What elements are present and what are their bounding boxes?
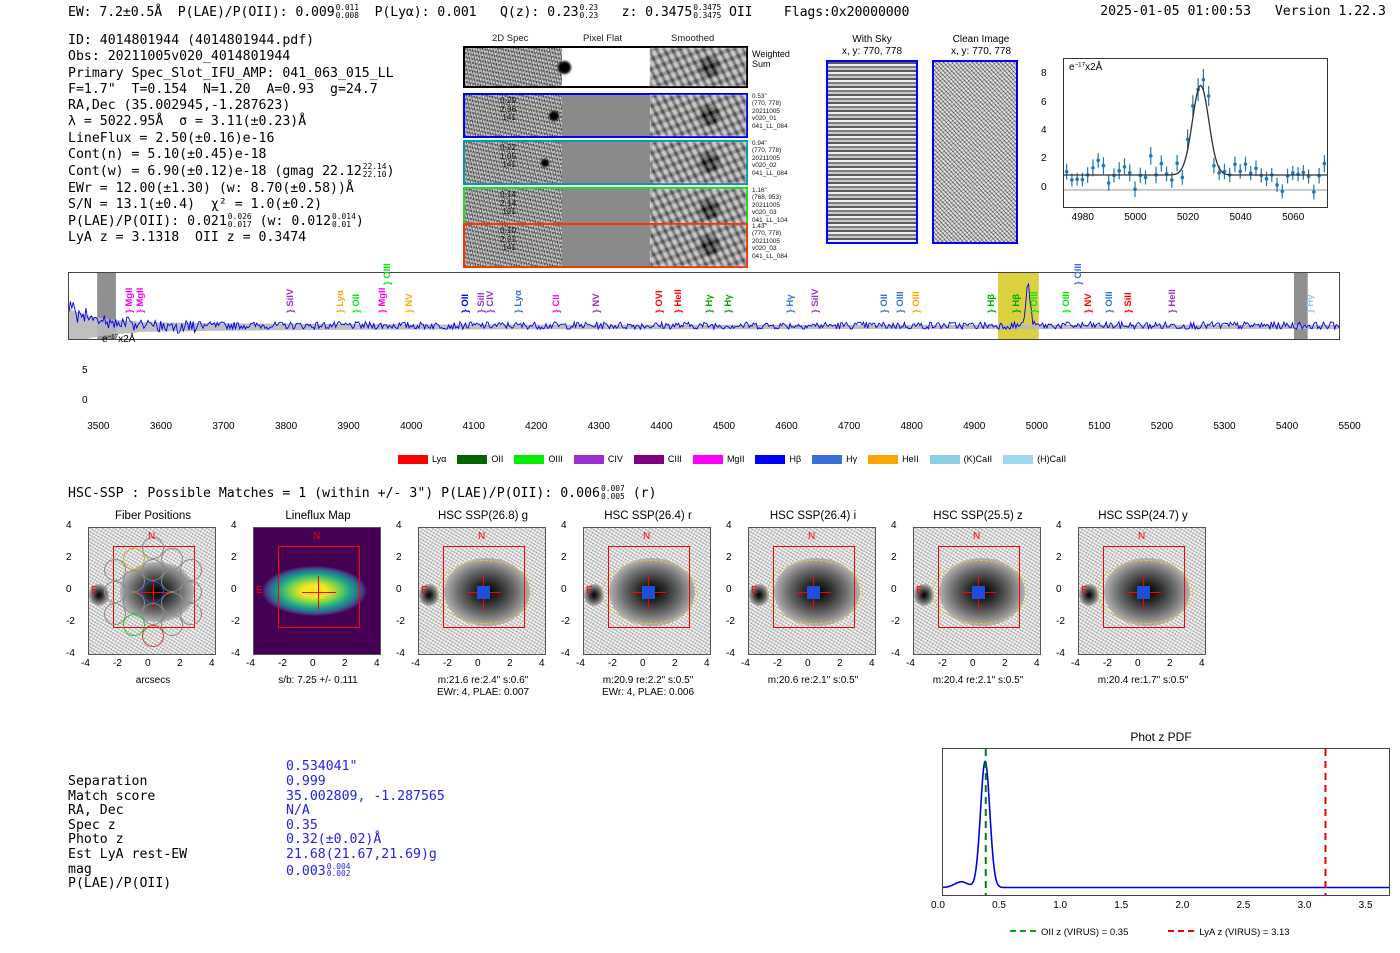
smoothed-image-weighted [650, 48, 746, 86]
cutout-ytick: 0 [891, 584, 897, 595]
zoom-spectrum-frame [1063, 58, 1328, 208]
legend-swatch [634, 455, 664, 464]
phot-z-pdf-title: Phot z PDF [930, 730, 1392, 744]
source-marker [972, 586, 985, 599]
fs-xtick: 4900 [963, 421, 985, 432]
cutout-ytick: -2 [231, 616, 240, 627]
east-label: E [256, 585, 263, 596]
cutout-image[interactable] [88, 527, 216, 655]
phot-z-pdf-frame [942, 748, 1390, 896]
cutout-ytick: -4 [396, 648, 405, 659]
cutout-caption-line1: s/b: 7.25 +/- 0.111 [225, 675, 411, 687]
east-label: E [916, 585, 923, 596]
legend-swatch [812, 455, 842, 464]
info-obs: Obs: 20211005v020_4014801944 [68, 49, 395, 65]
legend-swatch [930, 455, 960, 464]
spectrum-legend-item-2: OIII [514, 454, 563, 464]
cutout-xtick: 2 [1002, 658, 1008, 669]
fs-xtick: 3700 [212, 421, 234, 432]
fs-xtick: 4300 [588, 421, 610, 432]
emission-line-label-civ-10: } CIV [485, 291, 496, 313]
fiber-circle-16 [161, 614, 183, 636]
cutout-xtick: 4 [209, 658, 215, 669]
header-timestamp-version: 2025-01-05 01:00:53 Version 1.22.3 [1100, 4, 1386, 19]
cutout-caption-line1: m:20.6 re:2.1" s:0.5" [720, 675, 906, 687]
legend-swatch [755, 455, 785, 464]
pz-xtick: 1.0 [1053, 900, 1067, 911]
spec2d-col-title-pixelflat: Pixel Flat [583, 33, 622, 44]
emission-line-label-oiii-26: } OIII [1061, 291, 1072, 313]
spectrum-legend-item-9: (K)CaII [930, 454, 993, 464]
match-table-key: Spec z [68, 819, 116, 834]
info-plae-range: 0.0260.017 [228, 213, 252, 229]
legend-label: Hβ [789, 454, 801, 464]
cleanimage-image[interactable] [932, 60, 1018, 244]
emission-line-label-oiii-21: } OIII [895, 291, 906, 313]
north-label: N [478, 531, 485, 542]
legend-swatch [1003, 455, 1033, 464]
zoom-spectrum-units: e−17x2Å [1069, 62, 1102, 73]
header-plya: P(Lyα): 0.001 [375, 5, 477, 20]
north-label: N [148, 531, 155, 542]
east-label: E [586, 585, 593, 596]
cutout-ytick: 4 [726, 520, 732, 531]
match-table-key: mag [68, 863, 92, 878]
spectrum-legend-item-0: Lyα [398, 454, 446, 464]
spec2d-image-weighted [465, 48, 562, 86]
cutout-panel-title: HSC SSP(24.7) y [1050, 510, 1236, 522]
east-label: E [1081, 585, 1088, 596]
cutout-xtick: -4 [741, 658, 750, 669]
two-d-spec-panel-group: 2D Spec Pixel Flat Smoothed WeightedSum … [400, 33, 810, 258]
spec2d-rightlabels-fiber-3: 1.16"(768, 953)20211005v020_03041_LL_104 [752, 187, 812, 224]
match-table-value: 0.999 [286, 775, 326, 790]
cutout-xtick: -2 [938, 658, 947, 669]
east-label: E [751, 585, 758, 596]
legend-label: CIV [608, 454, 623, 464]
zoom-spectrum-svg [1064, 59, 1327, 207]
cutout-xtick: 4 [1034, 658, 1040, 669]
cutout-xtick: 2 [177, 658, 183, 669]
fiber-circle-14 [161, 548, 183, 570]
pz-xtick: 0.0 [931, 900, 945, 911]
cutout-ytick: -2 [1056, 616, 1065, 627]
cutout-xtick: -2 [113, 658, 122, 669]
cutout-ytick: 4 [891, 520, 897, 531]
cutout-panel-title: Lineflux Map [225, 510, 411, 522]
match-plae-range: 0.0040.002 [327, 863, 351, 879]
pixelflat-image-fiber-4 [562, 225, 651, 266]
spectrum-legend-item-7: Hγ [812, 454, 857, 464]
fs-xtick: 4200 [525, 421, 547, 432]
cutout-xtick: 4 [539, 658, 545, 669]
emission-line-label-siiv-19: } SiIV [810, 289, 821, 313]
match-table-key: Match score [68, 790, 155, 805]
spec2d-leftlabels-fiber-3: 0.142.14121 [476, 191, 516, 217]
cutout-ytick: -4 [1056, 648, 1065, 659]
info-plae-w-range: 0.0140.01 [332, 213, 356, 229]
fs-xtick: 4700 [838, 421, 860, 432]
cutout-xtick: 0 [970, 658, 976, 669]
fiber-circle-3 [123, 570, 145, 592]
cutout-image[interactable] [1078, 527, 1206, 655]
cutout-ytick: 4 [66, 520, 72, 531]
cutout-xtick: -2 [1103, 658, 1112, 669]
timestamp: 2025-01-05 01:00:53 [1100, 4, 1251, 19]
pz-legend-dash [1168, 930, 1194, 932]
match-table-key: RA, Dec [68, 804, 124, 819]
zs-ytick: 4 [1041, 125, 1047, 136]
zs-ytick: 2 [1041, 153, 1047, 164]
gmag-range: 22.1422.10 [363, 163, 387, 179]
fs-xtick: 3500 [87, 421, 109, 432]
emission-line-label-mgii-1: } MgII [135, 288, 146, 313]
fs-ytick: 5 [82, 365, 88, 376]
spec2d-rightlabels-fiber-2: 0.94"(770, 778)20211005v020_02041_LL_084 [752, 140, 812, 177]
pixelflat-image-fiber-2 [562, 142, 651, 183]
cutout-ytick: 2 [561, 552, 567, 563]
header-ew: EW: 7.2±0.5Å [68, 5, 162, 20]
fs-xtick: 5500 [1338, 421, 1360, 432]
match-table-key: Photo z [68, 833, 124, 848]
fs-xtick: 5400 [1276, 421, 1298, 432]
header-qz-range: 0.230.23 [579, 4, 598, 20]
spectrum-legend-item-6: Hβ [755, 454, 801, 464]
hsc-ssp-header: HSC-SSP : Possible Matches = 1 (within +… [68, 485, 657, 501]
fiber-circle-10 [180, 559, 202, 581]
emission-line-label-heii-31: } HeII [1167, 289, 1178, 313]
cutout-caption: arcsecs [60, 675, 246, 687]
north-label: N [1138, 531, 1145, 542]
cutout-caption: m:20.4 re:2.1" s:0.5" [885, 675, 1071, 687]
match-table-key: Est LyA rest-EW [68, 848, 187, 863]
emission-line-label-siiv-2: } SiIV [285, 289, 296, 313]
emission-line-label-hγ-18: } Hγ [785, 295, 796, 313]
emission-line-label-ovi-14: } OVI [654, 290, 665, 313]
match-table-value: 0.0030.0040.002 [286, 863, 351, 880]
weighted-sum-label: WeightedSum [752, 49, 790, 69]
emission-line-label-oii-4: } OII [351, 294, 362, 313]
cutout-caption: s/b: 7.25 +/- 0.111 [225, 675, 411, 687]
header-plae-range: 0.0110.008 [336, 4, 359, 20]
north-label: N [808, 531, 815, 542]
emission-line-label-oiii-25: } OIII [1029, 291, 1040, 313]
cutout-caption: m:20.4 re:1.7" s:0.5" [1050, 675, 1236, 687]
legend-swatch [457, 455, 487, 464]
north-label: N [313, 531, 320, 542]
fs-xtick: 5000 [1026, 421, 1048, 432]
pz-xtick: 0.5 [992, 900, 1006, 911]
info-sn-chi2: S/N = 13.1(±0.4) χ² = 1.0(±0.2) [68, 197, 395, 213]
cutout-xtick: -4 [576, 658, 585, 669]
cutout-ytick: -2 [726, 616, 735, 627]
header-z-type: OII [729, 5, 753, 20]
cutout-ytick: 0 [396, 584, 402, 595]
emission-line-label-hγ-17: } Hγ [723, 295, 734, 313]
fs-xtick: 3900 [338, 421, 360, 432]
info-lambda-sigma: λ = 5022.95Å σ = 3.11(±0.23)Å [68, 114, 395, 130]
cutout-caption: m:20.9 re:2.2" s:0.5"EWr: 4, PLAE: 0.006 [555, 675, 741, 699]
zs-xtick: 5040 [1229, 212, 1251, 223]
header-plae-label: P(LAE)/P(OII): [178, 5, 288, 20]
fs-xtick: 5200 [1151, 421, 1173, 432]
legend-label: HeII [902, 454, 919, 464]
spec2d-leftlabels-fiber-2: 0.221.05141 [476, 144, 516, 170]
fs-xtick: 4800 [901, 421, 923, 432]
header-qz-label: Q(z): [500, 5, 539, 20]
cutout-ytick: -4 [66, 648, 75, 659]
zoom-spectrum-plot[interactable]: e−17x2Å 02468 49805000502050405060 [1035, 50, 1335, 255]
cutout-xtick: 0 [145, 658, 151, 669]
emission-line-label-lyα-3: } Lyα [335, 290, 346, 313]
info-seeing: F=1.7" T=0.154 N=1.20 A=0.93 g=24.7 [68, 82, 395, 98]
info-lineflux: LineFlux = 2.50(±0.16)e-16 [68, 131, 395, 147]
cutout-caption-line1: m:20.9 re:2.2" s:0.5" [555, 675, 741, 687]
cutout-ytick: -2 [66, 616, 75, 627]
emission-line-label-oii-8: } OII [460, 294, 471, 313]
cutout-ytick: 0 [66, 584, 72, 595]
legend-label: (K)CaII [964, 454, 993, 464]
cutout-xtick: 2 [342, 658, 348, 669]
phot-z-pdf-panel[interactable]: Phot z PDF 0.00.51.01.52.02.53.03.5 OII … [930, 730, 1392, 945]
cutout-caption: m:20.6 re:2.1" s:0.5" [720, 675, 906, 687]
pz-legend-label: OII z (VIRUS) = 0.35 [1041, 927, 1128, 938]
spec2d-row-weighted-sum[interactable] [463, 46, 748, 88]
info-ewr: EWr = 12.00(±1.30) (w: 8.70(±0.58))Å [68, 181, 395, 197]
cutout-ytick: 4 [396, 520, 402, 531]
spectrum-legend-item-4: CIII [634, 454, 682, 464]
cutout-xtick: 0 [805, 658, 811, 669]
fs-xtick: 4100 [463, 421, 485, 432]
pz-legend-dash [1010, 930, 1036, 932]
cutout-caption-line1: arcsecs [60, 675, 246, 687]
info-radec: RA,Dec (35.002945,-1.287623) [68, 98, 395, 114]
emission-line-label-siii-30: } SiII [1123, 292, 1134, 313]
header-plae-value: 0.009 [295, 5, 334, 20]
cutout-ytick: 0 [561, 584, 567, 595]
cutout-image[interactable] [913, 527, 1041, 655]
pz-legend-item-1: LyA z (VIRUS) = 3.13 [1168, 920, 1289, 939]
pz-legend-item-0: OII z (VIRUS) = 0.35 [1010, 920, 1128, 939]
legend-swatch [693, 455, 723, 464]
north-label: N [643, 531, 650, 542]
crosshair-vertical [318, 576, 319, 610]
header-flags: Flags:0x20000000 [784, 5, 909, 20]
pz-xtick: 2.0 [1175, 900, 1189, 911]
match-table-key: P(LAE)/P(OII) [68, 877, 171, 892]
emission-line-label-hβ-23: } Hβ [986, 294, 997, 313]
cutout-ytick: 2 [1056, 552, 1062, 563]
emission-line-label-hγ-32: } Hγ [1305, 295, 1316, 313]
zs-ytick: 6 [1041, 97, 1047, 108]
spectrum-legend-item-5: MgII [693, 454, 745, 464]
source-marker [642, 586, 655, 599]
cutout-xtick: 4 [374, 658, 380, 669]
east-label: E [421, 585, 428, 596]
legend-label: CIII [668, 454, 682, 464]
hsc-plae-range: 0.0070.005 [601, 485, 625, 501]
cutout-ytick: -4 [726, 648, 735, 659]
emission-line-label-heii-15: } HeII [673, 289, 684, 313]
match-table-value: 21.68(21.67,21.69)g [286, 848, 437, 863]
cutout-caption: m:21.6 re:2.4" s:0.6"EWr: 4, PLAE: 0.007 [390, 675, 576, 699]
fs-ytick: 0 [82, 395, 88, 406]
cutout-ytick: 2 [66, 552, 72, 563]
cutout-ytick: -4 [231, 648, 240, 659]
cutout-xtick: -4 [246, 658, 255, 669]
cutout-image[interactable] [583, 527, 711, 655]
match-table-key: Separation [68, 775, 147, 790]
legend-swatch [574, 455, 604, 464]
match-table-value: N/A [286, 804, 310, 819]
zs-xtick: 5020 [1177, 212, 1199, 223]
smoothed-image-fiber-2 [650, 142, 746, 183]
cutout-xtick: 0 [310, 658, 316, 669]
fs-xtick: 4500 [713, 421, 735, 432]
full-spectrum-units: e−17x2Å [102, 334, 135, 345]
info-id: ID: 4014801944 (4014801944.pdf) [68, 33, 395, 49]
cutout-xtick: -2 [608, 658, 617, 669]
full-spectrum-panel[interactable]: e−17x2Å } MgII} MgII} SiIV} Lyα} OII} Mg… [68, 272, 1388, 477]
spectrum-legend-item-3: CIV [574, 454, 623, 464]
header-z-label: z: [622, 5, 638, 20]
legend-swatch [514, 455, 544, 464]
fs-xtick: 4600 [775, 421, 797, 432]
emission-line-label-oiii-22: } OIII [911, 291, 922, 313]
phot-z-pdf-legend: OII z (VIRUS) = 0.35LyA z (VIRUS) = 3.13 [1010, 920, 1290, 939]
cutout-image[interactable] [418, 527, 546, 655]
pz-xtick: 3.0 [1298, 900, 1312, 911]
info-plae: P(LAE)/P(OII): 0.0210.0260.017 (w: 0.012… [68, 213, 395, 230]
cutout-xtick: 4 [704, 658, 710, 669]
cutout-xtick: 2 [1167, 658, 1173, 669]
cutout-ytick: 4 [231, 520, 237, 531]
cutout-xtick: 2 [507, 658, 513, 669]
legend-label: OII [491, 454, 503, 464]
legend-label: (H)CaII [1037, 454, 1066, 464]
emission-line-label-mgii-5: } MgII [377, 288, 388, 313]
north-label: N [973, 531, 980, 542]
emission-line-label-cii-11: } CII [551, 295, 562, 313]
header-qz-value: 0.23 [547, 5, 578, 20]
withsky-title: With Sky x, y: 770, 778 [822, 34, 922, 58]
fs-xtick: 4000 [400, 421, 422, 432]
legend-swatch [398, 455, 428, 464]
emission-line-label-hγ-16: } Hγ [704, 295, 715, 313]
cutout-panel-title: Fiber Positions [60, 510, 246, 522]
match-table-value: 0.32(±0.02)Å [286, 833, 381, 848]
withsky-image[interactable] [826, 60, 918, 244]
cutout-xtick: -4 [906, 658, 915, 669]
cutout-xtick: -4 [411, 658, 420, 669]
version-label: Version 1.22.3 [1275, 4, 1386, 19]
cutout-ytick: 2 [396, 552, 402, 563]
source-marker [477, 586, 490, 599]
spec2d-col-title-smoothed: Smoothed [671, 33, 714, 44]
cutout-ytick: 4 [561, 520, 567, 531]
emission-line-label-oiii-6: } OIII [382, 263, 393, 285]
spec2d-leftlabels-fiber-1: 0.292.36141 [476, 97, 516, 123]
smoothed-image-fiber-1 [650, 95, 746, 136]
pz-xtick: 1.5 [1114, 900, 1128, 911]
zs-xtick: 5060 [1282, 212, 1304, 223]
emission-line-label-lyα-12: } Lyα [513, 290, 524, 313]
pixelflat-image-fiber-1 [562, 95, 651, 136]
spec2d-leftlabels-fiber-4: 0.102.21141 [476, 227, 516, 253]
fs-xtick: 3600 [150, 421, 172, 432]
cutout-panel-title: HSC SSP(26.4) r [555, 510, 741, 522]
cutout-caption-line1: m:20.4 re:1.7" s:0.5" [1050, 675, 1236, 687]
pz-legend-label: LyA z (VIRUS) = 3.13 [1199, 927, 1289, 938]
cutout-xtick: -2 [773, 658, 782, 669]
cutout-xtick: 0 [475, 658, 481, 669]
cutout-ytick: 2 [231, 552, 237, 563]
fiber-circle-4 [123, 592, 145, 614]
fs-xtick: 3800 [275, 421, 297, 432]
detection-info-block: ID: 4014801944 (4014801944.pdf) Obs: 202… [68, 33, 395, 247]
cutout-xtick: -4 [81, 658, 90, 669]
cutout-ytick: -2 [561, 616, 570, 627]
emission-line-label-oiii-27: } OIII [1073, 263, 1084, 285]
emission-line-label-hβ-24: } Hβ [1011, 294, 1022, 313]
cutout-ytick: 0 [726, 584, 732, 595]
cleanimage-title: Clean Image x, y: 770, 778 [926, 34, 1036, 58]
fiber-circle-18 [142, 625, 164, 647]
match-table-value: 35.002809, -1.287565 [286, 790, 445, 805]
spec2d-rightlabels-fiber-1: 0.53"(770, 778)20211005v020_01041_LL_084 [752, 93, 812, 130]
cutout-xtick: 4 [869, 658, 875, 669]
emission-line-label-oiii-29: } OIII [1104, 291, 1115, 313]
cutout-ytick: -4 [891, 648, 900, 659]
spec2d-rightlabels-fiber-4: 1.43"(770, 778)20211005v020_03041_LL_084 [752, 223, 812, 260]
cutout-xtick: -4 [1071, 658, 1080, 669]
cutout-ytick: -2 [891, 616, 900, 627]
spectrum-legend-item-8: HeII [868, 454, 919, 464]
spectrum-legend-item-10: (H)CaII [1003, 454, 1066, 464]
match-table-value: 0.534041" [286, 760, 357, 775]
cutout-caption-line1: m:21.6 re:2.4" s:0.6" [390, 675, 576, 687]
cutout-panel-title: HSC SSP(25.5) z [885, 510, 1071, 522]
legend-swatch [868, 455, 898, 464]
phot-z-pdf-svg [943, 749, 1389, 895]
cutout-ytick: -4 [561, 648, 570, 659]
emission-line-label-oii-20: } OII [879, 294, 890, 313]
pixelflat-image-weighted [562, 48, 651, 86]
source-marker [807, 586, 820, 599]
fs-xtick: 5100 [1088, 421, 1110, 432]
fs-xtick: 5300 [1213, 421, 1235, 432]
emission-line-label-nv-13: } NV [591, 293, 602, 313]
cutout-caption-line2: EWr: 4, PLAE: 0.007 [390, 687, 576, 699]
header-z-value: 0.3475 [645, 5, 692, 20]
emission-line-label-nv-28: } NV [1083, 293, 1094, 313]
cutout-ytick: 0 [231, 584, 237, 595]
info-primary-spec-slot: Primary Spec_Slot_IFU_AMP: 041_063_015_L… [68, 66, 395, 82]
cutout-caption-line2: EWr: 4, PLAE: 0.006 [555, 687, 741, 699]
cutout-panel-title: HSC SSP(26.4) i [720, 510, 906, 522]
pz-xtick: 3.5 [1359, 900, 1373, 911]
zs-xtick: 5000 [1124, 212, 1146, 223]
fiber-circle-12 [180, 603, 202, 625]
pz-xtick: 2.5 [1236, 900, 1250, 911]
zs-ytick: 8 [1041, 68, 1047, 79]
cutout-image[interactable] [748, 527, 876, 655]
info-cont-n: Cont(n) = 5.10(±0.45)e-18 [68, 147, 395, 163]
header-summary-line: EW: 7.2±0.5Å P(LAE)/P(OII): 0.0090.0110.… [68, 4, 909, 20]
cutout-image[interactable] [253, 527, 381, 655]
cutout-caption-line1: m:20.4 re:2.1" s:0.5" [885, 675, 1071, 687]
header-z-range: 0.34750.3475 [693, 4, 721, 20]
